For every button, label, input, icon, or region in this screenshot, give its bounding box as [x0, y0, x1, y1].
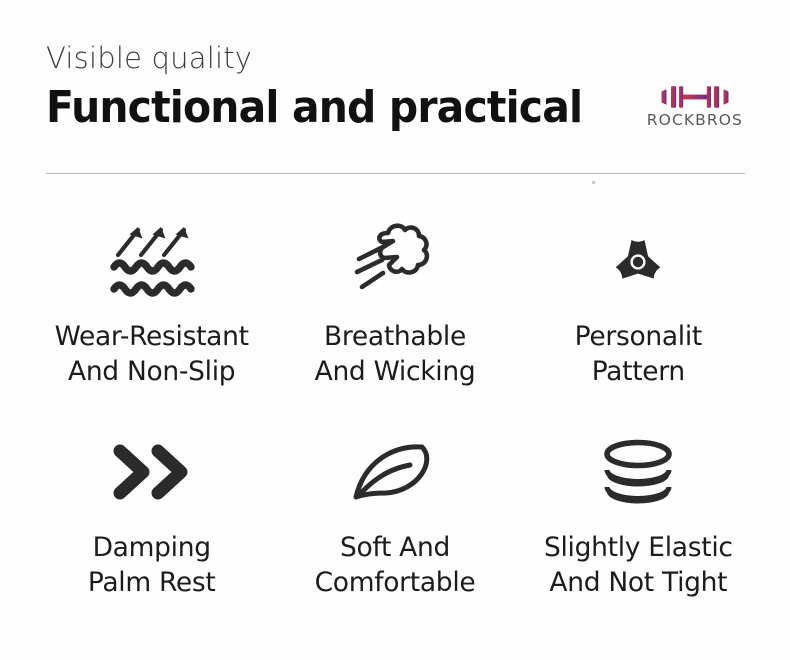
stacked-rings-icon — [600, 433, 676, 511]
arrows-over-waves-icon — [108, 214, 196, 306]
feature-item-breathable: Breathable And Wicking — [273, 196, 516, 401]
feature-label: Damping Palm Rest — [88, 531, 216, 601]
feature-label: Wear-Resistant And Non-Slip — [55, 320, 249, 390]
feature-label: Slightly Elastic And Not Tight — [544, 531, 733, 601]
page-title: Functional and practical — [46, 85, 582, 131]
header: Visible quality Functional and practical — [46, 44, 745, 176]
feature-label: Breathable And Wicking — [315, 320, 476, 390]
infographic-page: Visible quality Functional and practical — [0, 0, 790, 660]
feature-item-personalit-pattern: Personalit Pattern — [517, 196, 760, 401]
feature-item-slightly-elastic: Slightly Elastic And Not Tight — [517, 401, 760, 606]
cloud-wind-icon — [352, 214, 438, 306]
headline-row: Functional and practical — [46, 84, 745, 131]
feature-item-wear-resistant: Wear-Resistant And Non-Slip — [30, 196, 273, 401]
brand-name: ROCKBROS — [647, 113, 743, 129]
feature-grid: Wear-Resistant And Non-Slip Breathable A… — [30, 196, 760, 606]
feature-item-soft-comfortable: Soft And Comfortable — [273, 401, 516, 606]
brand-logo: ROCKBROS — [647, 84, 743, 131]
feature-label: Soft And Comfortable — [315, 531, 476, 601]
feature-item-damping-palm-rest: Damping Palm Rest — [30, 401, 273, 606]
feature-label: Personalit Pattern — [575, 320, 702, 390]
artifact-speck — [592, 181, 595, 184]
dumbbell-icon — [658, 84, 732, 110]
leaf-icon — [348, 433, 442, 511]
eyebrow-text: Visible quality — [46, 44, 745, 73]
double-chevron-right-icon — [110, 433, 194, 511]
header-divider — [46, 173, 745, 174]
radiation-trefoil-icon — [599, 214, 677, 306]
